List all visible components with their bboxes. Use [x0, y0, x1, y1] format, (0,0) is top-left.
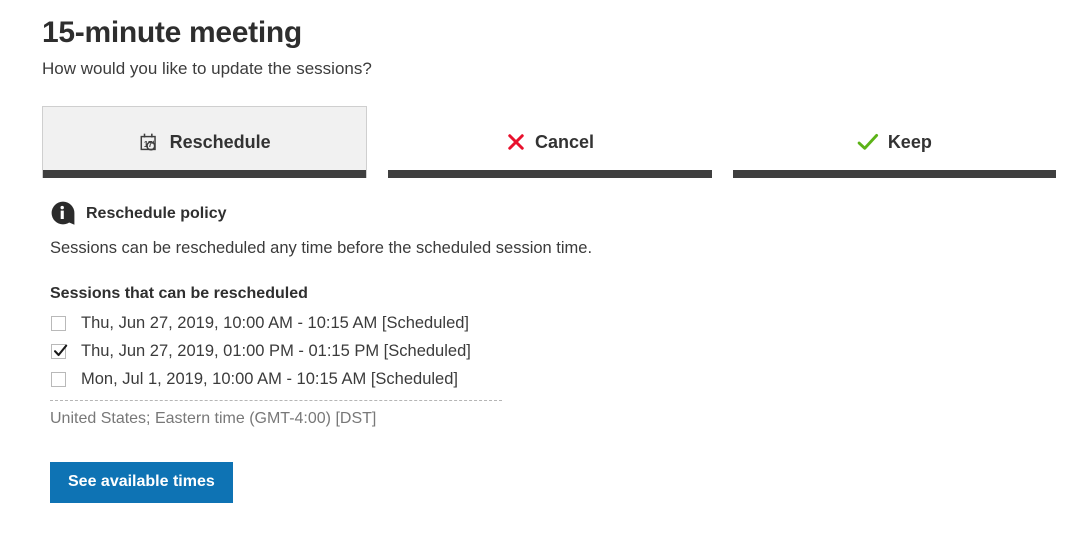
action-tab-bar: 17 Reschedule Cancel	[42, 106, 1056, 178]
policy-header: Reschedule policy	[50, 201, 1084, 227]
list-item[interactable]: Thu, Jun 27, 2019, 01:00 PM - 01:15 PM […	[50, 337, 502, 365]
session-checkbox[interactable]	[51, 316, 66, 331]
info-icon	[50, 201, 76, 227]
session-checkbox[interactable]	[51, 372, 66, 387]
policy-title: Reschedule policy	[86, 205, 227, 223]
tab-cancel-label: Cancel	[535, 132, 594, 153]
tab-keep-label: Keep	[888, 132, 932, 153]
sessions-heading: Sessions that can be rescheduled	[50, 285, 1084, 303]
session-label: Thu, Jun 27, 2019, 10:00 AM - 10:15 AM […	[81, 314, 469, 333]
session-checkbox[interactable]	[51, 344, 66, 359]
page-title: 15-minute meeting	[42, 0, 1084, 52]
reschedule-dialog: 15-minute meeting How would you like to …	[0, 0, 1084, 533]
tab-keep[interactable]: Keep	[733, 106, 1056, 178]
policy-text: Sessions can be rescheduled any time bef…	[50, 238, 1084, 259]
divider	[50, 400, 502, 401]
list-item[interactable]: Thu, Jun 27, 2019, 10:00 AM - 10:15 AM […	[50, 309, 502, 337]
session-label: Mon, Jul 1, 2019, 10:00 AM - 10:15 AM [S…	[81, 370, 458, 389]
calendar-refresh-icon: 17	[139, 132, 161, 154]
reschedule-policy-section: Reschedule policy Sessions can be resche…	[42, 201, 1084, 259]
tab-cancel-underline	[388, 170, 711, 178]
green-check-icon	[857, 132, 879, 152]
red-x-icon	[506, 132, 526, 152]
tab-reschedule-underline	[43, 170, 366, 178]
see-available-times-button[interactable]: See available times	[50, 462, 233, 503]
list-item[interactable]: Mon, Jul 1, 2019, 10:00 AM - 10:15 AM [S…	[50, 365, 502, 393]
timezone-label: United States; Eastern time (GMT-4:00) […	[50, 410, 1084, 428]
tab-keep-underline	[733, 170, 1056, 178]
tab-cancel[interactable]: Cancel	[388, 106, 711, 178]
checkmark-icon	[52, 342, 69, 359]
sessions-section: Sessions that can be rescheduled Thu, Ju…	[42, 285, 1084, 428]
page-subtitle: How would you like to update the session…	[42, 52, 1084, 80]
session-list: Thu, Jun 27, 2019, 10:00 AM - 10:15 AM […	[50, 309, 502, 393]
tab-reschedule[interactable]: 17 Reschedule	[42, 106, 367, 178]
session-label: Thu, Jun 27, 2019, 01:00 PM - 01:15 PM […	[81, 342, 471, 361]
tab-reschedule-label: Reschedule	[170, 132, 271, 153]
